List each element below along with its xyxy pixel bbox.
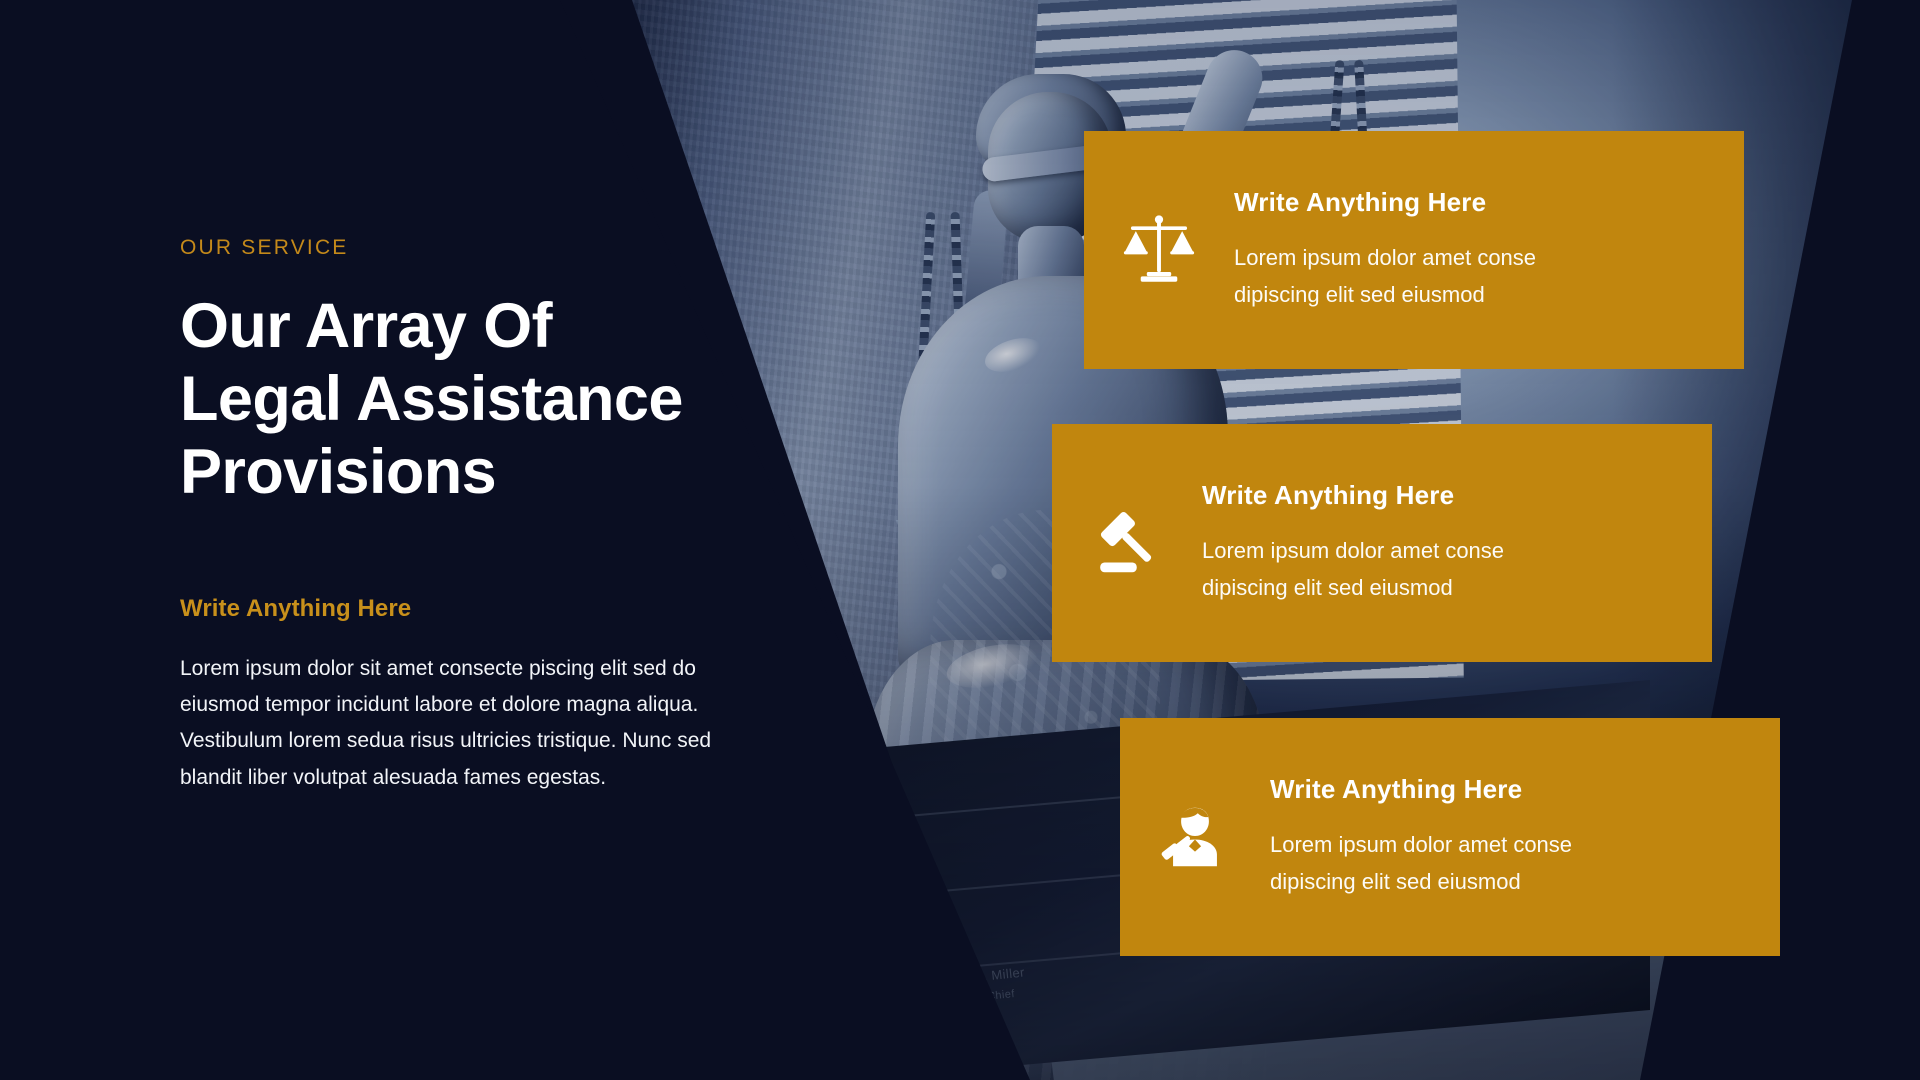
scales-of-justice-icon <box>1084 211 1234 289</box>
card-title: Write Anything Here <box>1234 187 1704 218</box>
card-description: Lorem ipsum dolor amet conse dipiscing e… <box>1234 240 1614 314</box>
feature-card[interactable]: Write Anything Here Lorem ipsum dolor am… <box>1084 131 1744 369</box>
gavel-icon <box>1052 504 1202 582</box>
lawyer-icon <box>1120 798 1270 876</box>
feature-card[interactable]: Write Anything Here Lorem ipsum dolor am… <box>1120 718 1780 956</box>
card-description: Lorem ipsum dolor amet conse dipiscing e… <box>1202 533 1582 607</box>
feature-card-list: Write Anything Here Lorem ipsum dolor am… <box>0 0 1920 1080</box>
card-title: Write Anything Here <box>1202 480 1672 511</box>
slide-root: Keith C. Miller Editor-In-Chief OUR SERV… <box>0 0 1920 1080</box>
card-description: Lorem ipsum dolor amet conse dipiscing e… <box>1270 827 1650 901</box>
feature-card[interactable]: Write Anything Here Lorem ipsum dolor am… <box>1052 424 1712 662</box>
card-title: Write Anything Here <box>1270 774 1740 805</box>
